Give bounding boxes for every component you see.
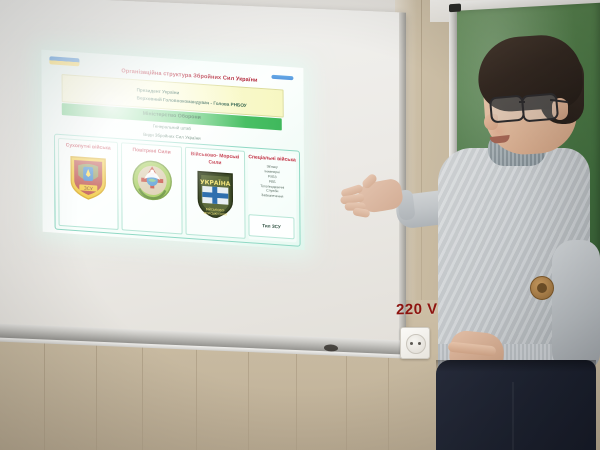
trousers — [436, 360, 596, 450]
waist-shadow — [436, 360, 596, 372]
slide-title-lead: Орган — [121, 68, 138, 75]
column-army: Сухопутні війська ЗСУ — [58, 138, 119, 230]
tray-clip — [324, 344, 338, 352]
branches-container: Сухопутні війська ЗСУ По — [54, 134, 301, 247]
glasses-right-lens — [521, 92, 559, 122]
svg-text:ЗСУ: ЗСУ — [84, 185, 93, 192]
sweater-patch — [530, 276, 554, 300]
ukraine-flag-icon — [49, 56, 79, 66]
trouser-seam — [512, 382, 514, 450]
classroom-photo: Організаційна структура Збройних Сил Укр… — [0, 0, 600, 450]
column-army-heading: Сухопутні війська — [66, 142, 111, 152]
student-presenter — [392, 92, 600, 450]
glasses-left-lens — [489, 95, 525, 124]
column-air-force: Повітряні Сили — [121, 142, 182, 234]
air-force-round-emblem — [131, 157, 173, 204]
column-air-force-heading: Повітряні Сили — [132, 147, 170, 156]
special-troops-list: Зв'язку Інженерні РХБЗ РЕБ Топогеодезичн… — [260, 164, 284, 200]
svg-text:МОРСЬКІ СИЛИ: МОРСЬКІ СИЛИ — [204, 211, 228, 217]
rear-services-box: Тил ЗСУ — [248, 214, 294, 239]
glasses-bridge — [519, 101, 525, 103]
projected-slide: Організаційна структура Збройних Сил Укр… — [41, 50, 304, 250]
column-special-heading: Спеціальні війська — [248, 154, 295, 164]
column-navy: Військово- Морські Сили УКРАЇНА ВІЙСЬКОВ… — [185, 147, 246, 239]
navy-shield-emblem: УКРАЇНА ВІЙСЬКОВО- МОРСЬКІ СИЛИ — [195, 168, 235, 219]
chalkboard-top-trim — [457, 0, 600, 11]
projection-whiteboard[interactable]: Організаційна структура Збройних Сил Укр… — [0, 0, 406, 343]
army-shield-emblem: ЗСУ — [68, 152, 108, 201]
right-arm — [552, 240, 600, 370]
chalkboard-corner-cap — [449, 4, 461, 13]
column-navy-heading: Військово- Морські Сили — [186, 151, 244, 169]
list-item: Забезпечення — [260, 193, 284, 200]
